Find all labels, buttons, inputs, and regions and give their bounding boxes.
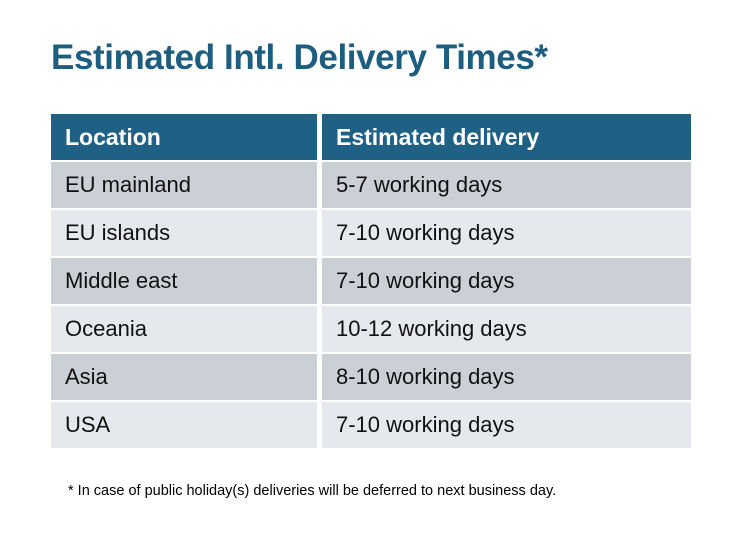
cell-estimated-delivery: 7-10 working days [322, 402, 691, 448]
cell-location: EU mainland [51, 162, 317, 208]
table-row: EU mainland 5-7 working days [51, 162, 691, 208]
table-row: USA 7-10 working days [51, 402, 691, 448]
table-row: Middle east 7-10 working days [51, 258, 691, 304]
table-row: Asia 8-10 working days [51, 354, 691, 400]
cell-location: Oceania [51, 306, 317, 352]
cell-location: USA [51, 402, 317, 448]
table-row: Oceania 10-12 working days [51, 306, 691, 352]
column-header-location: Location [51, 114, 317, 160]
cell-estimated-delivery: 10-12 working days [322, 306, 691, 352]
cell-estimated-delivery: 5-7 working days [322, 162, 691, 208]
cell-estimated-delivery: 7-10 working days [322, 210, 691, 256]
footnote-text: * In case of public holiday(s) deliverie… [68, 481, 556, 501]
table-header-row: Location Estimated delivery [51, 114, 691, 160]
cell-estimated-delivery: 8-10 working days [322, 354, 691, 400]
table-row: EU islands 7-10 working days [51, 210, 691, 256]
cell-location: EU islands [51, 210, 317, 256]
cell-location: Asia [51, 354, 317, 400]
column-header-estimated-delivery: Estimated delivery [322, 114, 691, 160]
delivery-times-table: Location Estimated delivery EU mainland … [51, 114, 691, 450]
cell-location: Middle east [51, 258, 317, 304]
cell-estimated-delivery: 7-10 working days [322, 258, 691, 304]
delivery-times-page: Estimated Intl. Delivery Times* Location… [0, 0, 745, 536]
page-title: Estimated Intl. Delivery Times* [51, 36, 548, 80]
